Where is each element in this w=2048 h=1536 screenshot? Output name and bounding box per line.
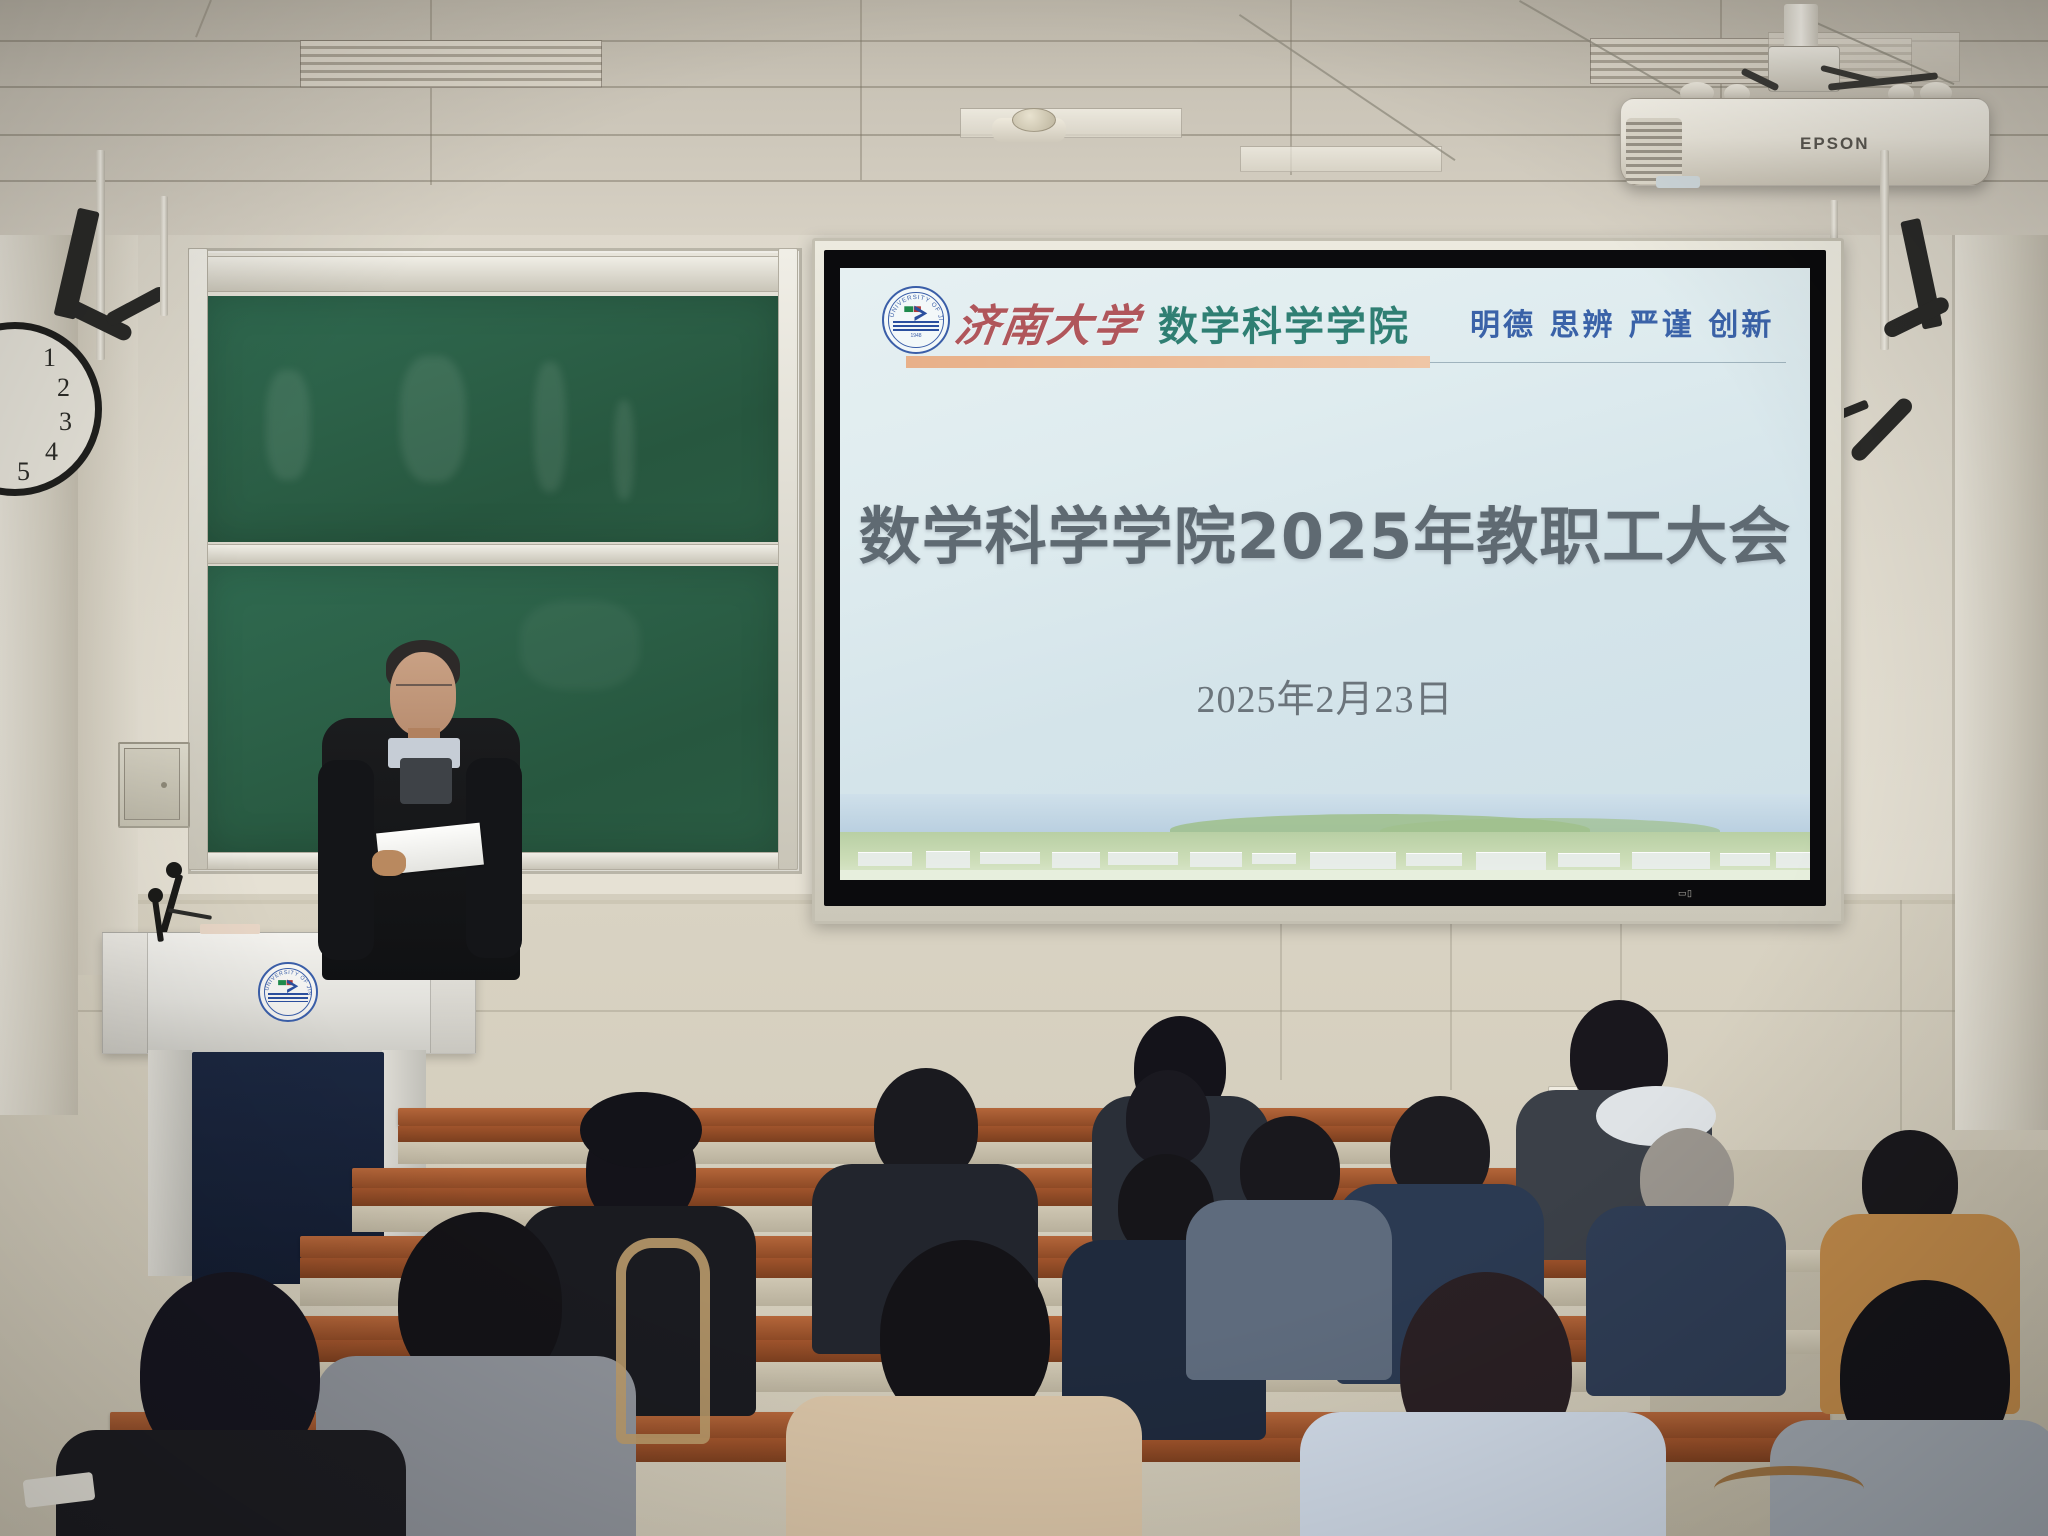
lectern-left-cheek [102, 932, 148, 1054]
wall-seam [1280, 900, 1282, 1080]
presentation-slide: UNIVERSITY OF JINAN 1948 济南大学 数学科学学院 明德 … [840, 268, 1810, 880]
speaker-hand [372, 850, 406, 876]
wall-seam [1450, 900, 1452, 1090]
electrical-panel-door[interactable] [124, 748, 180, 820]
panorama-foreground [840, 870, 1810, 880]
chalk-smudge [266, 370, 310, 480]
dome-camera-icon [142, 150, 188, 190]
lectern-left-leg [148, 1050, 192, 1276]
attendee-cap [580, 1092, 702, 1168]
screen-brand-tag: ▭▯ [1678, 888, 1692, 899]
seal-chevron-icon [277, 979, 299, 994]
wall-seam [1952, 170, 1955, 1130]
chair-back [616, 1238, 710, 1444]
clock-numeral: 2 [57, 373, 70, 403]
campus-panorama-image [840, 794, 1810, 880]
dome-camera-icon [0, 96, 40, 130]
clock-numeral: 1 [43, 343, 56, 373]
chalk-smudge [520, 600, 640, 690]
attendee-head [1126, 1070, 1210, 1166]
microphone-head [148, 888, 163, 903]
seal-waves-icon [893, 321, 939, 331]
slide-date: 2025年2月23日 [840, 668, 1810, 723]
ujn-seal-logo-podium: UNIVERSITY OF JINAN [258, 962, 314, 1018]
clock-numeral: 4 [45, 437, 58, 467]
chalk-smudge [400, 356, 466, 482]
seal-waves-icon [268, 993, 308, 1002]
attendee-body [56, 1430, 406, 1536]
slide-college-name: 数学科学学院 [1158, 294, 1410, 352]
ceiling-air-grille [300, 40, 602, 88]
slide-thin-rule [1430, 362, 1786, 363]
slide-title: 数学科学学院2025年教职工大会 [840, 486, 1810, 576]
seal-chevron-icon [903, 305, 929, 322]
chalk-smudge [614, 400, 634, 500]
electrical-panel-knob[interactable] [161, 782, 167, 788]
clock-numeral: 3 [59, 407, 72, 437]
ujn-seal-logo-slide: UNIVERSITY OF JINAN 1948 [882, 286, 946, 350]
projector-lens [1656, 176, 1700, 188]
smoke-detector-icon [1012, 108, 1056, 132]
screen-hanger-pole [1880, 150, 1889, 350]
speaker-sweater [400, 758, 452, 804]
attendee-body [786, 1396, 1142, 1536]
projector-vent [1626, 118, 1682, 184]
seal-year-text: 1948 [884, 333, 948, 339]
dome-camera-icon [58, 42, 120, 96]
podium-paper [200, 924, 260, 934]
projector-mount-rod [1784, 4, 1818, 52]
speaker-glasses-icon [396, 684, 452, 696]
projector-brand-label: EPSON [1800, 134, 1870, 154]
dome-camera-icon [1196, 148, 1244, 190]
speaker-left-arm [318, 760, 374, 960]
chalkboard-top-rail [196, 256, 790, 292]
slide-accent-rule [906, 356, 1430, 368]
slide-motto: 明德 思辨 严谨 创新 [1470, 300, 1774, 344]
attendee-body [1186, 1200, 1392, 1380]
attendee-body [1586, 1206, 1786, 1396]
chalkboard-right-rail [778, 248, 798, 870]
attendee-body [1300, 1412, 1666, 1536]
microphone-head [166, 862, 182, 878]
right-pillar [1955, 170, 2048, 1130]
chalkboard-left-rail [188, 248, 208, 870]
screen-hanger-pole [160, 196, 168, 316]
clock-numeral: 5 [17, 457, 30, 487]
dome-camera-icon [802, 42, 864, 98]
slide-university-name: 济南大学 [952, 290, 1145, 354]
ceiling-light-panel [1240, 146, 1442, 172]
lecture-hall-photo: EPSON 1 2 3 4 5 [0, 0, 2048, 1536]
chalkboard-mid-rail [196, 544, 790, 564]
chalk-smudge [534, 362, 566, 492]
